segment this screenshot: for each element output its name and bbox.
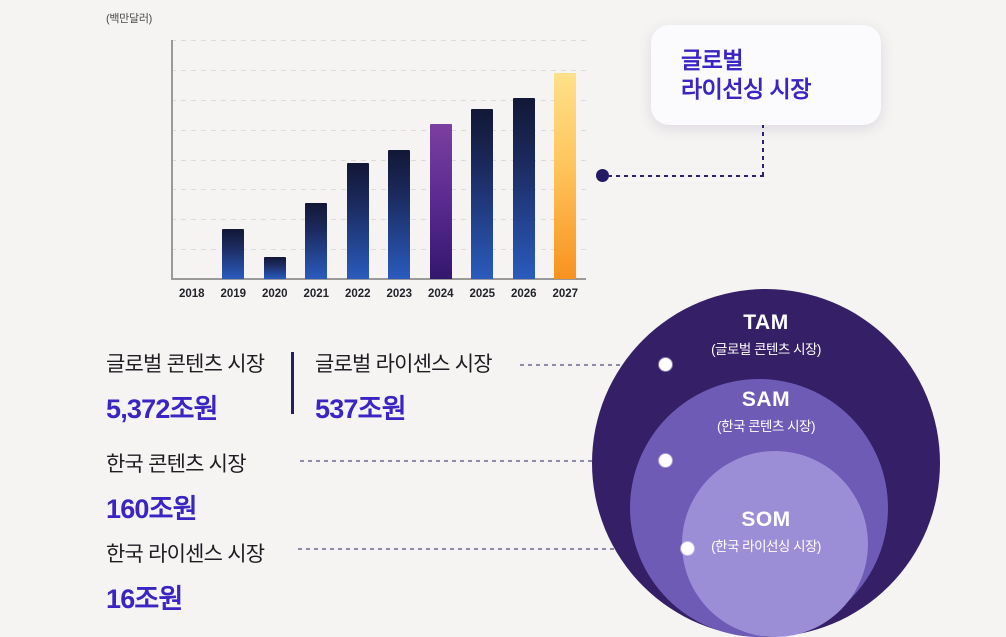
- x-axis-label-2023: 2023: [379, 288, 421, 300]
- bar-2025: [471, 109, 493, 279]
- bar-cell: [379, 40, 421, 279]
- stat-value: 5,372조원: [106, 387, 264, 426]
- x-axis-label-2025: 2025: [462, 288, 504, 300]
- bar-cell: [296, 40, 338, 279]
- x-axis-label-2027: 2027: [545, 288, 587, 300]
- bar-2022: [347, 163, 369, 279]
- tam-sam-som-diagram: TAM (글로벌 콘텐츠 시장) SAM (한국 콘텐츠 시장) SOM (한국…: [592, 289, 940, 637]
- bar-2026: [513, 98, 535, 279]
- bar-2021: [305, 203, 327, 279]
- callout-line-1: 글로벌: [681, 46, 881, 75]
- callout-connector-horizontal: [608, 175, 764, 177]
- x-axis-label-2020: 2020: [254, 288, 296, 300]
- x-axis-label-2026: 2026: [503, 288, 545, 300]
- stat-title: 글로벌 라이센스 시장: [315, 348, 492, 378]
- stat-global-content: 글로벌 콘텐츠 시장 5,372조원: [106, 348, 264, 426]
- bar-cell: [503, 40, 545, 279]
- som-circle: [682, 451, 868, 637]
- bar-2020: [264, 257, 286, 279]
- x-axis-label-2022: 2022: [337, 288, 379, 300]
- stat-global-license: 글로벌 라이센스 시장 537조원: [315, 348, 492, 426]
- bar-cell: [337, 40, 379, 279]
- infographic-root: (백만달러) 400,000380,000360,000340,000320,0…: [0, 0, 1006, 633]
- bar-cell: [462, 40, 504, 279]
- bar-2019: [222, 229, 244, 279]
- bar-cell: [171, 40, 213, 279]
- x-axis-label-2019: 2019: [213, 288, 255, 300]
- bar-cell: [213, 40, 255, 279]
- bar-cell: [420, 40, 462, 279]
- global-licensing-callout: 글로벌 라이선싱 시장: [651, 25, 881, 125]
- bar-2024: [430, 124, 452, 279]
- stat-title: 글로벌 콘텐츠 시장: [106, 348, 264, 378]
- bar-cell: [545, 40, 587, 279]
- market-bar-chart: (백만달러) 400,000380,000360,000340,000320,0…: [0, 0, 600, 310]
- stat-value: 16조원: [106, 577, 264, 616]
- callout-connector-vertical: [762, 124, 764, 176]
- stat-value: 537조원: [315, 387, 492, 426]
- stat-title: 한국 라이센스 시장: [106, 538, 264, 568]
- x-axis-label-2021: 2021: [296, 288, 338, 300]
- tam-connector-dot: [659, 358, 672, 371]
- stat-divider: [291, 352, 294, 414]
- x-axis-label-2024: 2024: [420, 288, 462, 300]
- sam-connector-dot: [659, 454, 672, 467]
- callout-line-2: 라이선싱 시장: [681, 75, 881, 104]
- stat-korea-content: 한국 콘텐츠 시장 160조원: [106, 448, 246, 526]
- bar-2023: [388, 150, 410, 279]
- x-axis-label-2018: 2018: [171, 288, 213, 300]
- x-axis-label-group: 2018201920202021202220232024202520262027: [171, 288, 586, 300]
- bar-2027: [554, 73, 576, 279]
- chart-unit-label: (백만달러): [106, 10, 152, 26]
- stat-korea-license: 한국 라이센스 시장 16조원: [106, 538, 264, 616]
- bar-group: [171, 40, 586, 279]
- bar-cell: [254, 40, 296, 279]
- stat-title: 한국 콘텐츠 시장: [106, 448, 246, 478]
- stat-value: 160조원: [106, 487, 246, 526]
- som-connector-dot: [681, 542, 694, 555]
